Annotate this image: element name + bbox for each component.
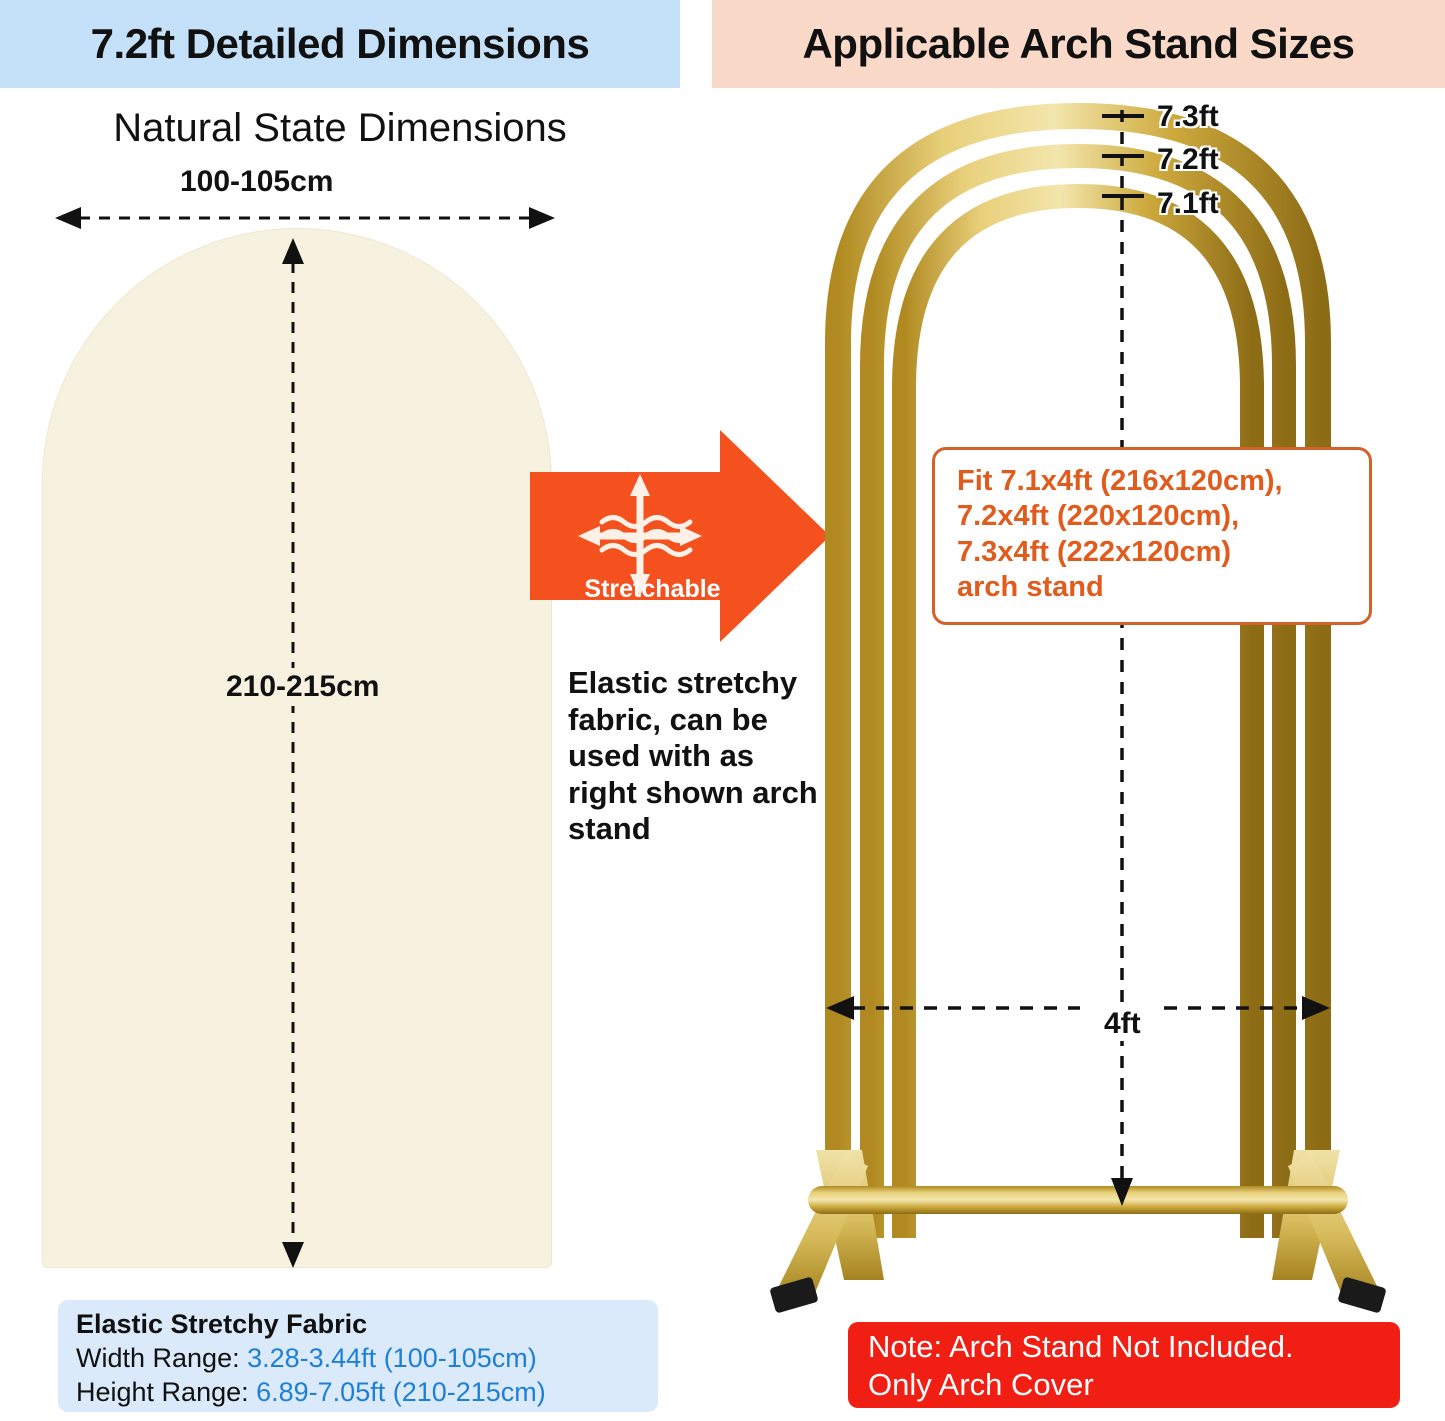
- info-box-width-row: Width Range: 3.28-3.44ft (100-105cm): [76, 1343, 640, 1374]
- arch-size-tag-71: 7.1ft: [1157, 187, 1219, 221]
- info-box-title: Elastic Stretchy Fabric: [76, 1309, 640, 1340]
- cloth-width-label: 100-105cm: [180, 165, 333, 199]
- cloth-width-dimension-arrow: [55, 205, 555, 231]
- fit-line-1: Fit 7.1x4ft (216x120cm),: [957, 464, 1351, 499]
- fit-line-3: 7.3x4ft (222x120cm): [957, 535, 1351, 570]
- right-panel-header: Applicable Arch Stand Sizes: [712, 0, 1445, 88]
- right-panel-title: Applicable Arch Stand Sizes: [802, 20, 1354, 68]
- gold-arch-stand-graphic: [712, 88, 1445, 1328]
- cloth-height-dimension-arrow: [280, 238, 306, 1268]
- note-line-1: Note: Arch Stand Not Included.: [868, 1328, 1386, 1366]
- elastic-fabric-info-box: Elastic Stretchy Fabric Width Range: 3.2…: [58, 1300, 658, 1412]
- info-box-width-label: Width Range:: [76, 1343, 247, 1373]
- arch-size-tag-73: 7.3ft: [1157, 100, 1219, 134]
- fit-line-4: arch stand: [957, 570, 1351, 605]
- arch-size-tag-72: 7.2ft: [1157, 143, 1219, 177]
- natural-state-subtitle: Natural State Dimensions: [50, 106, 630, 151]
- fit-line-2: 7.2x4ft (220x120cm),: [957, 499, 1351, 534]
- infographic-root: 7.2ft Detailed Dimensions Applicable Arc…: [0, 0, 1445, 1421]
- info-box-height-value: 6.89-7.05ft (210-215cm): [256, 1377, 546, 1407]
- fit-sizes-callout-box: Fit 7.1x4ft (216x120cm), 7.2x4ft (220x12…: [932, 447, 1372, 625]
- note-line-2: Only Arch Cover: [868, 1366, 1386, 1404]
- left-panel-title: 7.2ft Detailed Dimensions: [91, 20, 590, 68]
- arch-stand-not-included-note: Note: Arch Stand Not Included. Only Arch…: [848, 1322, 1400, 1408]
- info-box-height-label: Height Range:: [76, 1377, 256, 1407]
- left-panel-header: 7.2ft Detailed Dimensions: [0, 0, 680, 88]
- cloth-height-label: 210-215cm: [218, 668, 387, 706]
- info-box-height-row: Height Range: 6.89-7.05ft (210-215cm): [76, 1377, 640, 1408]
- stand-width-label: 4ft: [1098, 1007, 1147, 1041]
- info-box-width-value: 3.28-3.44ft (100-105cm): [247, 1343, 537, 1373]
